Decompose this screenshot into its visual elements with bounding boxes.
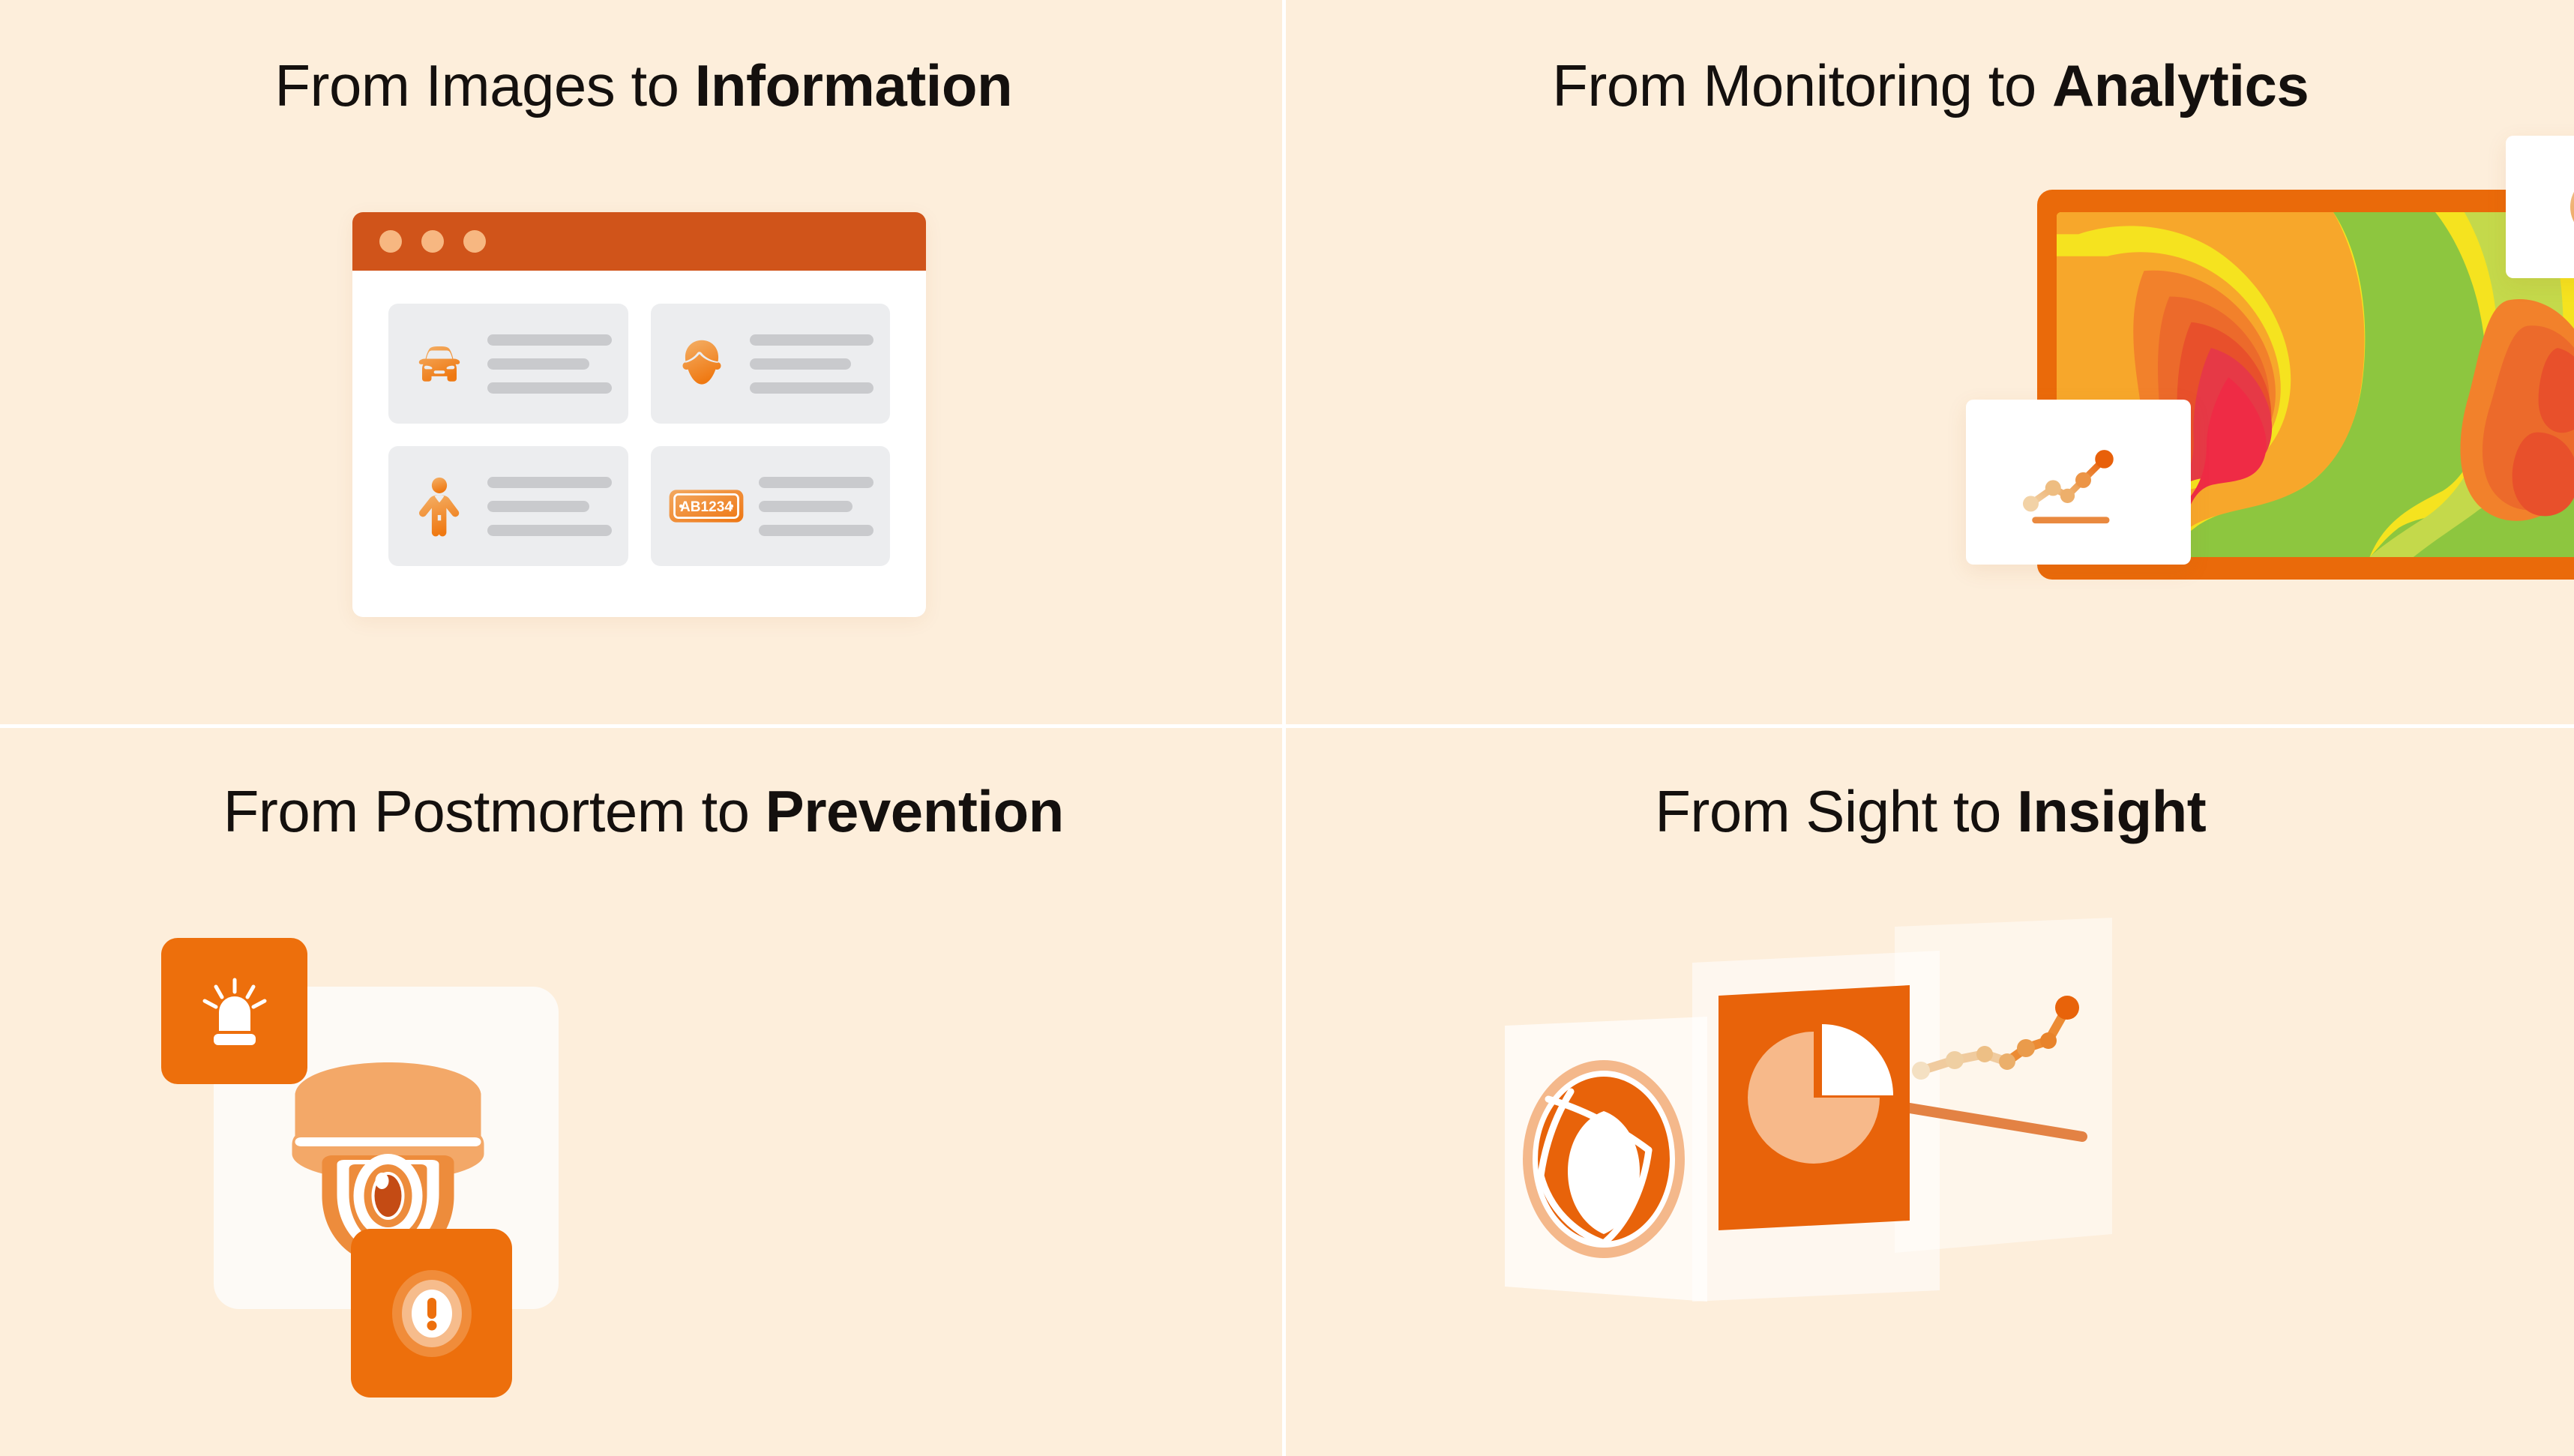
heading-row: From Images to Information [0,0,1287,115]
heading-emphasis: Insight [2017,778,2206,844]
text-line [487,501,589,512]
infographic-canvas: From Images to Information [0,0,2574,1456]
heading-emphasis: Information [695,52,1012,118]
license-plate-icon: AB1234 [667,472,745,541]
face-icon [667,329,736,398]
text-line [487,477,612,488]
window-dot-minimize-icon[interactable] [421,230,444,253]
heading-prefix: From Images to [274,52,694,118]
detection-card-license-plate[interactable]: AB1234 [651,446,891,566]
text-line [750,382,874,394]
pie-chart-icon [2558,160,2574,253]
heading-row: From Postmortem to Prevention [0,728,1287,840]
divider-vertical [1282,0,1286,1456]
card-text-lines [487,334,612,394]
heading-prefix: From Sight to [1655,778,2017,844]
divider-horizontal [0,724,2574,728]
heading-postmortem-to-prevention: From Postmortem to Prevention [223,782,1064,840]
card-text-lines [487,477,612,536]
heading-prefix: From Postmortem to [223,778,766,844]
quadrant-images-to-information: From Images to Information [0,0,1287,728]
quadrant-monitoring-to-analytics: From Monitoring to Analytics [1287,0,2574,728]
card-text-lines [759,477,874,536]
text-line [759,477,874,488]
person-icon [405,472,474,541]
car-icon [405,329,474,398]
card-text-lines [750,334,874,394]
alert-badge [351,1229,512,1398]
pie-chart-card [2506,136,2574,278]
insight-pie-card [1718,985,1910,1230]
window-dot-close-icon[interactable] [379,230,402,253]
heading-row: From Monitoring to Analytics [1287,0,2574,115]
quadrant-postmortem-to-prevention: From Postmortem to Prevention [0,728,1287,1456]
detection-card-vehicle[interactable] [388,304,628,424]
license-plate-text: AB1234 [680,499,733,515]
text-line [759,525,874,536]
illustration-layers [1287,840,2574,1456]
line-chart-card [1966,400,2191,565]
text-line [487,382,612,394]
browser-window: AB1234 [352,212,926,617]
text-line [750,334,874,346]
browser-titlebar [352,212,926,271]
heading-row: From Sight to Insight [1287,728,2574,840]
illustration-monitor [1287,115,2574,728]
heading-emphasis: Prevention [766,778,1064,844]
exclamation-icon [379,1257,484,1370]
layered-panels [1490,912,2120,1339]
text-line [487,334,612,346]
camera-aperture-icon [1523,1060,1685,1258]
text-line [750,358,852,370]
detection-card-grid: AB1234 [352,271,926,599]
quadrant-grid: From Images to Information [0,0,2574,1456]
detection-card-face[interactable] [651,304,891,424]
text-line [759,501,853,512]
illustration-camera [0,840,1287,1456]
quadrant-sight-to-insight: From Sight to Insight [1287,728,2574,1456]
illustration-browser: AB1234 [0,115,1287,728]
heading-monitoring-to-analytics: From Monitoring to Analytics [1552,56,2309,115]
heading-prefix: From Monitoring to [1552,52,2052,118]
heading-sight-to-insight: From Sight to Insight [1655,782,2206,840]
text-line [487,525,612,536]
window-dot-maximize-icon[interactable] [463,230,486,253]
heading-images-to-information: From Images to Information [274,56,1012,115]
detection-card-person[interactable] [388,446,628,566]
text-line [487,358,589,370]
heading-emphasis: Analytics [2052,52,2309,118]
line-chart-icon [2012,433,2144,532]
